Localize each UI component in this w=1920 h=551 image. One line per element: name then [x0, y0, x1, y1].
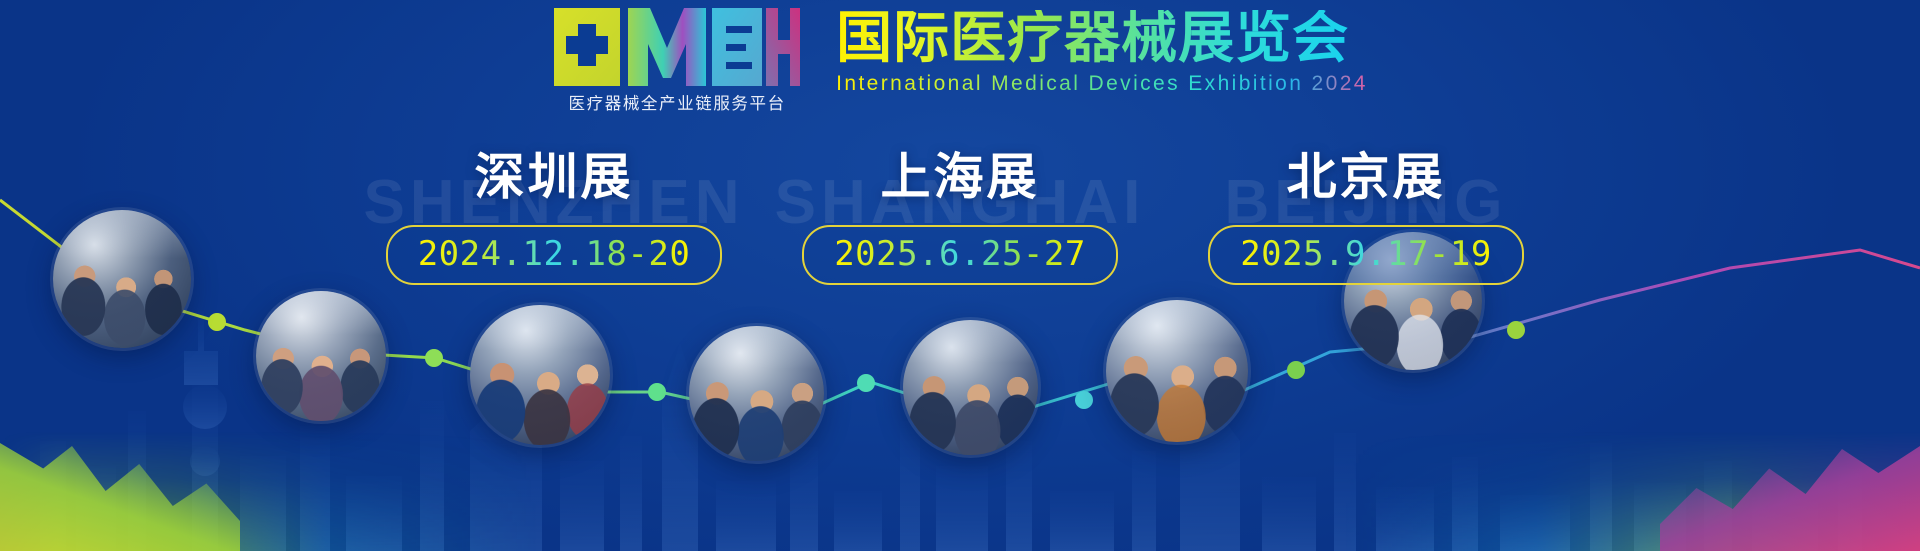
exhibition-banner: 医疗器械全产业链服务平台 国际医疗器械展览会 International Med… — [0, 0, 1920, 551]
date-pill[interactable]: 2024.12.18-20 — [386, 225, 723, 285]
date-text: 2025.9.17-19 — [1240, 234, 1492, 274]
photo-bubble-4 — [689, 326, 824, 461]
logo-tagline: 医疗器械全产业链服务平台 — [569, 90, 786, 114]
photo-bubble-2 — [256, 291, 386, 421]
date-text: 2025.6.25-27 — [834, 234, 1086, 274]
photo-bubble-3 — [470, 305, 610, 445]
logo-block: 医疗器械全产业链服务平台 — [552, 8, 802, 114]
photo-bubble-6 — [1106, 300, 1248, 442]
photo-bubble-5 — [903, 320, 1038, 455]
city-name: 深圳展 — [475, 150, 634, 205]
city-item-shanghai[interactable]: SHANGHAI 上海展 2025.6.25-27 — [805, 150, 1115, 285]
date-pill[interactable]: 2025.6.25-27 — [802, 225, 1118, 285]
cmeh-logo-icon — [554, 8, 800, 86]
date-text: 2024.12.18-20 — [418, 234, 691, 274]
city-name: 北京展 — [1287, 150, 1446, 205]
city-item-beijing[interactable]: BEIJING 北京展 2025.9.17-19 — [1211, 150, 1521, 285]
date-pill[interactable]: 2025.9.17-19 — [1208, 225, 1524, 285]
city-list: SHENZHEN 深圳展 2024.12.18-20 SHANGHAI 上海展 … — [0, 150, 1920, 300]
city-name: 上海展 — [881, 150, 1040, 205]
page-title: 国际医疗器械展览会 — [836, 10, 1349, 67]
banner-header: 医疗器械全产业链服务平台 国际医疗器械展览会 International Med… — [0, 8, 1920, 118]
city-item-shenzhen[interactable]: SHENZHEN 深圳展 2024.12.18-20 — [399, 150, 709, 285]
page-subtitle: International Medical Devices Exhibition… — [836, 72, 1368, 96]
title-block: 国际医疗器械展览会 International Medical Devices … — [836, 8, 1368, 96]
